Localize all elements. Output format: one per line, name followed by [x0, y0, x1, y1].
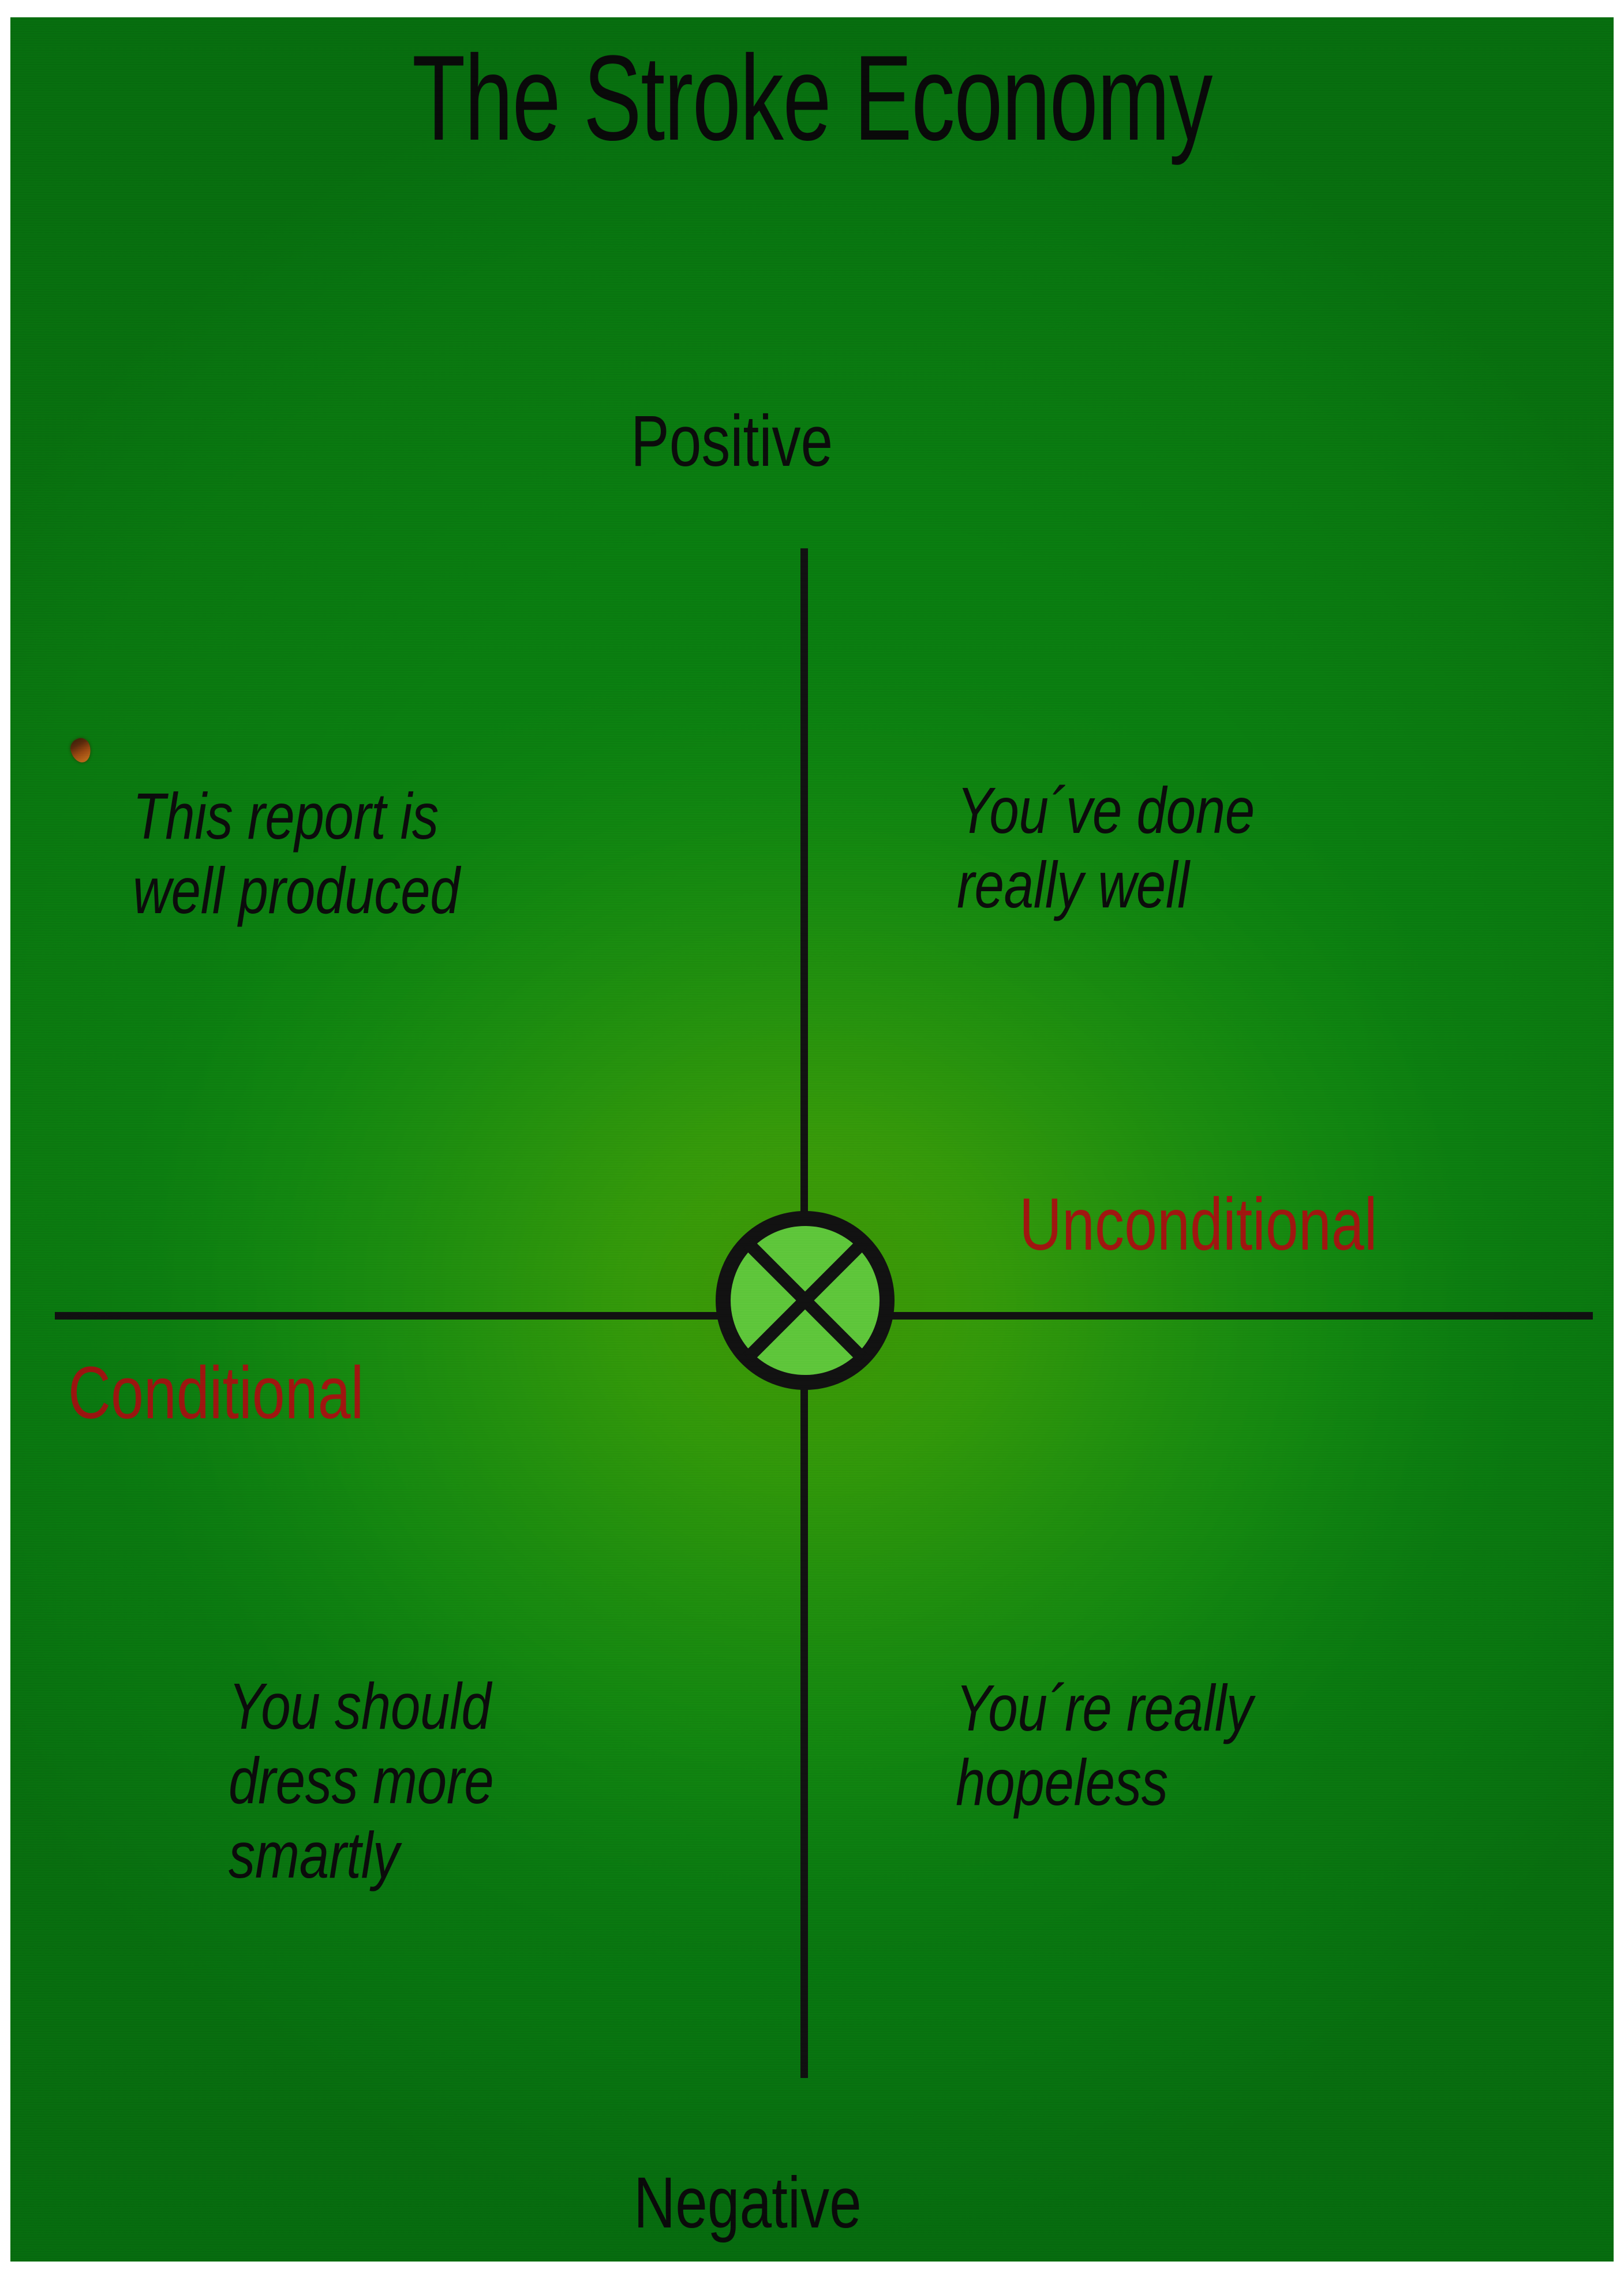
axis-label-positive: Positive: [631, 405, 833, 477]
vignette-overlay: [10, 17, 1614, 2262]
center-circle-x-icon: [712, 1208, 898, 1393]
scan-texture-overlay: [10, 17, 1614, 2262]
axis-label-conditional: Conditional: [68, 1356, 364, 1430]
page-title: The Stroke Economy: [235, 38, 1389, 159]
quadrant-text-negative-conditional: You should dress more smartly: [229, 1669, 493, 1892]
axis-label-unconditional: Unconditional: [1019, 1188, 1378, 1262]
quadrant-text-positive-unconditional: You´ve done really well: [957, 773, 1255, 922]
slide-canvas: The Stroke Economy Positive Negative Unc…: [0, 0, 1624, 2280]
quadrant-text-positive-conditional: This report is well produced: [133, 779, 459, 928]
axis-label-negative: Negative: [634, 2167, 862, 2239]
scan-blemish-speck: [68, 737, 93, 765]
quadrant-text-negative-unconditional: You´re really hopeless: [956, 1671, 1253, 1820]
stroke-economy-poster: The Stroke Economy Positive Negative Unc…: [10, 17, 1614, 2262]
